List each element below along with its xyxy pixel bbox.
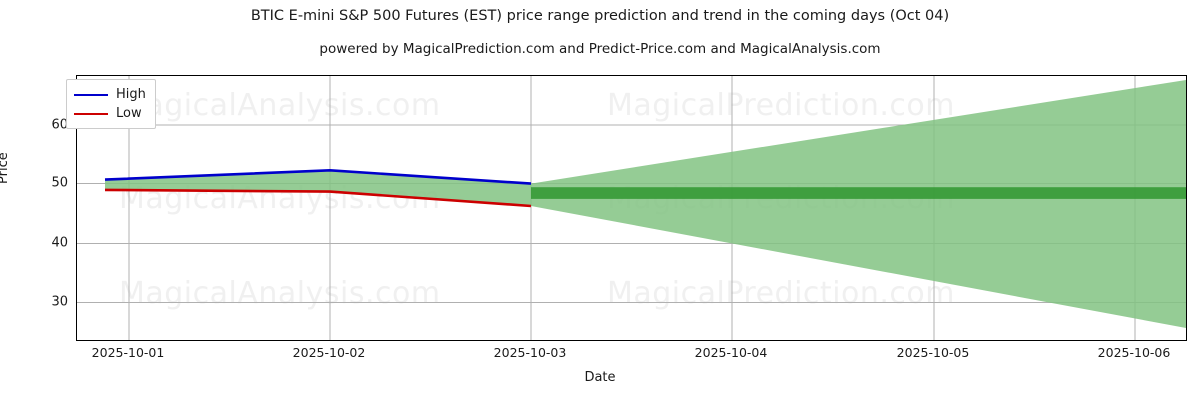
x-tick-label: 2025-10-02 <box>293 345 366 360</box>
x-tick-label: 2025-10-01 <box>92 345 165 360</box>
plot-area: MagicalAnalysis.com MagicalPrediction.co… <box>76 75 1187 341</box>
x-tick-label: 2025-10-03 <box>494 345 567 360</box>
chart-legend[interactable]: High Low <box>66 79 156 129</box>
legend-label-high: High <box>116 88 146 101</box>
y-axis-ticks: 60 50 40 30 <box>24 0 68 400</box>
x-tick-label: 2025-10-06 <box>1098 345 1171 360</box>
legend-label-low: Low <box>116 107 142 120</box>
legend-item-high[interactable]: High <box>74 85 146 104</box>
y-axis-label: Price <box>0 152 11 184</box>
legend-swatch-high-icon <box>74 94 108 96</box>
x-tick-label: 2025-10-04 <box>695 345 768 360</box>
forecast-central-band <box>531 187 1186 199</box>
chart-subtitle: powered by MagicalPrediction.com and Pre… <box>0 41 1200 57</box>
legend-item-low[interactable]: Low <box>74 104 146 123</box>
chart-title: BTIC E-mini S&P 500 Futures (EST) price … <box>0 8 1200 24</box>
y-tick-label: 40 <box>51 236 68 251</box>
x-axis-label: Date <box>0 370 1200 385</box>
y-tick-label: 30 <box>51 295 68 310</box>
chart-figure: BTIC E-mini S&P 500 Futures (EST) price … <box>0 0 1200 400</box>
x-tick-label: 2025-10-05 <box>897 345 970 360</box>
y-tick-label: 50 <box>51 176 68 191</box>
forecast-cone <box>531 80 1186 328</box>
legend-swatch-low-icon <box>74 113 108 115</box>
plot-canvas <box>77 76 1186 340</box>
